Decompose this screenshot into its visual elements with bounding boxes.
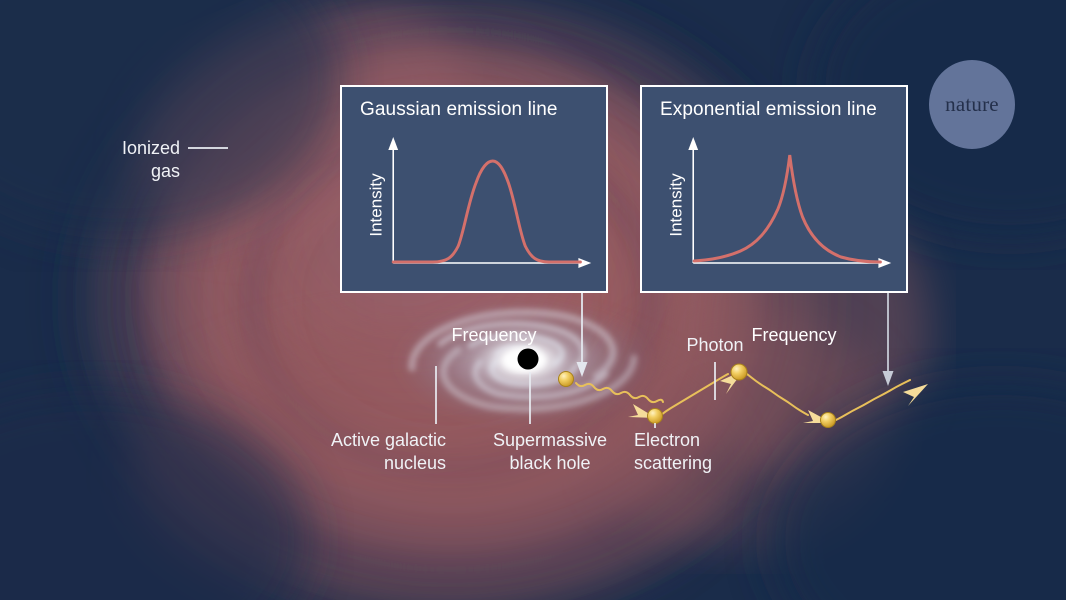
label-smbh-line1: Supermassive (470, 429, 630, 452)
supermassive-black-hole-core (518, 349, 539, 370)
label-smbh-line2: black hole (470, 452, 630, 475)
exponential-plot: Intensity (642, 131, 906, 289)
label-ionized-gas-line1: Ionized (40, 137, 180, 160)
label-agn-line1: Active galactic (286, 429, 446, 452)
label-active-galactic-nucleus: Active galactic nucleus (286, 429, 446, 475)
electron-scattering-site (821, 413, 836, 428)
label-photon-line1: Photon (655, 334, 775, 357)
panel-gaussian-emission-line: Gaussian emission line Intensity Frequen… (340, 85, 608, 293)
gaussian-plot: Intensity (342, 131, 606, 289)
label-electron-line2: scattering (634, 452, 794, 475)
label-photon: Photon (655, 334, 775, 357)
label-ionized-gas-line2: gas (40, 160, 180, 183)
electron-scattering-site (648, 409, 663, 424)
label-ionized-gas: Ionized gas (40, 137, 180, 183)
nature-logo-text: nature (945, 92, 999, 117)
label-agn-line2: nucleus (286, 452, 446, 475)
illustration-canvas: Gaussian emission line Intensity Frequen… (0, 0, 1066, 600)
gaussian-ylabel: Intensity (367, 173, 386, 237)
accretion-disk (394, 298, 654, 426)
label-supermassive-black-hole: Supermassive black hole (470, 429, 630, 475)
photon-sphere (559, 372, 574, 387)
panel-exponential-emission-line: Exponential emission line Intensity Freq… (640, 85, 908, 293)
label-electron-line1: Electron (634, 429, 794, 452)
exponential-ylabel: Intensity (667, 173, 686, 237)
gaussian-xlabel: Frequency (394, 325, 594, 346)
photon-sphere (731, 364, 747, 380)
panel-title-gaussian: Gaussian emission line (360, 99, 558, 121)
label-electron-scattering: Electron scattering (634, 429, 794, 475)
nature-logo: nature (929, 60, 1015, 149)
panel-title-exponential: Exponential emission line (660, 99, 877, 121)
